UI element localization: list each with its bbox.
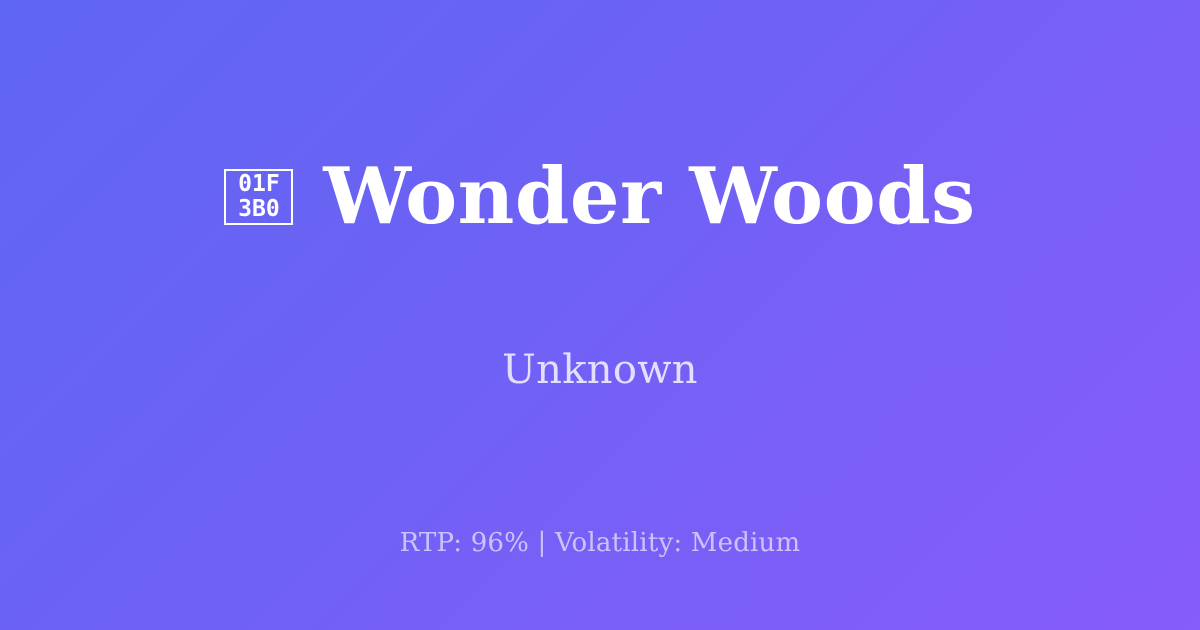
og-share-card: 01F 3B0 Wonder Woods Unknown RTP: 96% | … — [0, 0, 1200, 630]
tofu-codepoint-line-1: 01F — [238, 172, 280, 197]
game-meta-line: RTP: 96% | Volatility: Medium — [0, 527, 1200, 559]
page-title: Wonder Woods — [323, 158, 975, 236]
game-provider-subtitle: Unknown — [502, 350, 698, 390]
title-row: 01F 3B0 Wonder Woods — [224, 106, 975, 289]
slot-machine-icon: 01F 3B0 — [224, 169, 293, 225]
hero-section: 01F 3B0 Wonder Woods Unknown — [0, 0, 1200, 478]
tofu-codepoint-line-2: 3B0 — [238, 197, 280, 222]
